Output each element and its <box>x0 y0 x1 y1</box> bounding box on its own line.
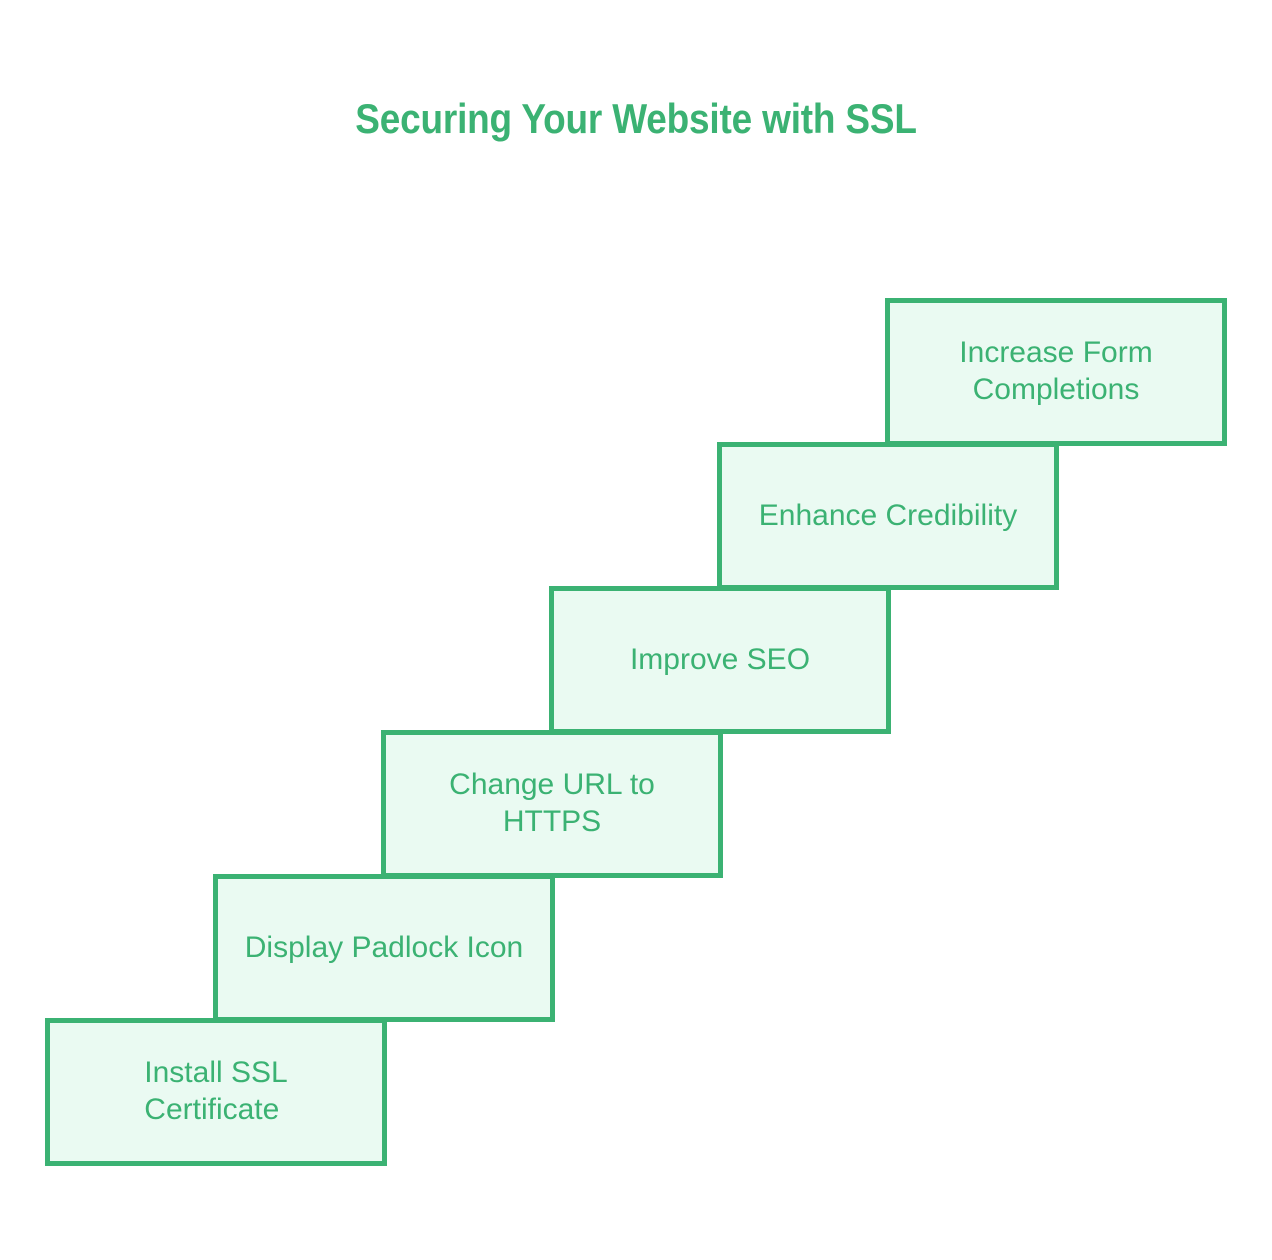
step-label-4: Improve SEO <box>630 642 810 679</box>
step-label-2: Display Padlock Icon <box>245 930 523 967</box>
step-box-6[interactable]: Increase Form Completions <box>885 298 1227 446</box>
step-box-2[interactable]: Display Padlock Icon <box>213 874 555 1022</box>
step-label-1: Install SSL Certificate <box>144 1055 287 1128</box>
staircase-diagram: Install SSL CertificateDisplay Padlock I… <box>0 0 1272 1260</box>
step-label-3: Change URL to HTTPS <box>449 767 655 840</box>
step-label-6: Increase Form Completions <box>959 335 1152 408</box>
step-box-5[interactable]: Enhance Credibility <box>717 442 1059 590</box>
step-box-3[interactable]: Change URL to HTTPS <box>381 730 723 878</box>
step-label-5: Enhance Credibility <box>759 498 1017 535</box>
diagram-canvas: Securing Your Website with SSL Install S… <box>0 0 1272 1260</box>
step-box-1[interactable]: Install SSL Certificate <box>45 1018 387 1166</box>
step-box-4[interactable]: Improve SEO <box>549 586 891 734</box>
